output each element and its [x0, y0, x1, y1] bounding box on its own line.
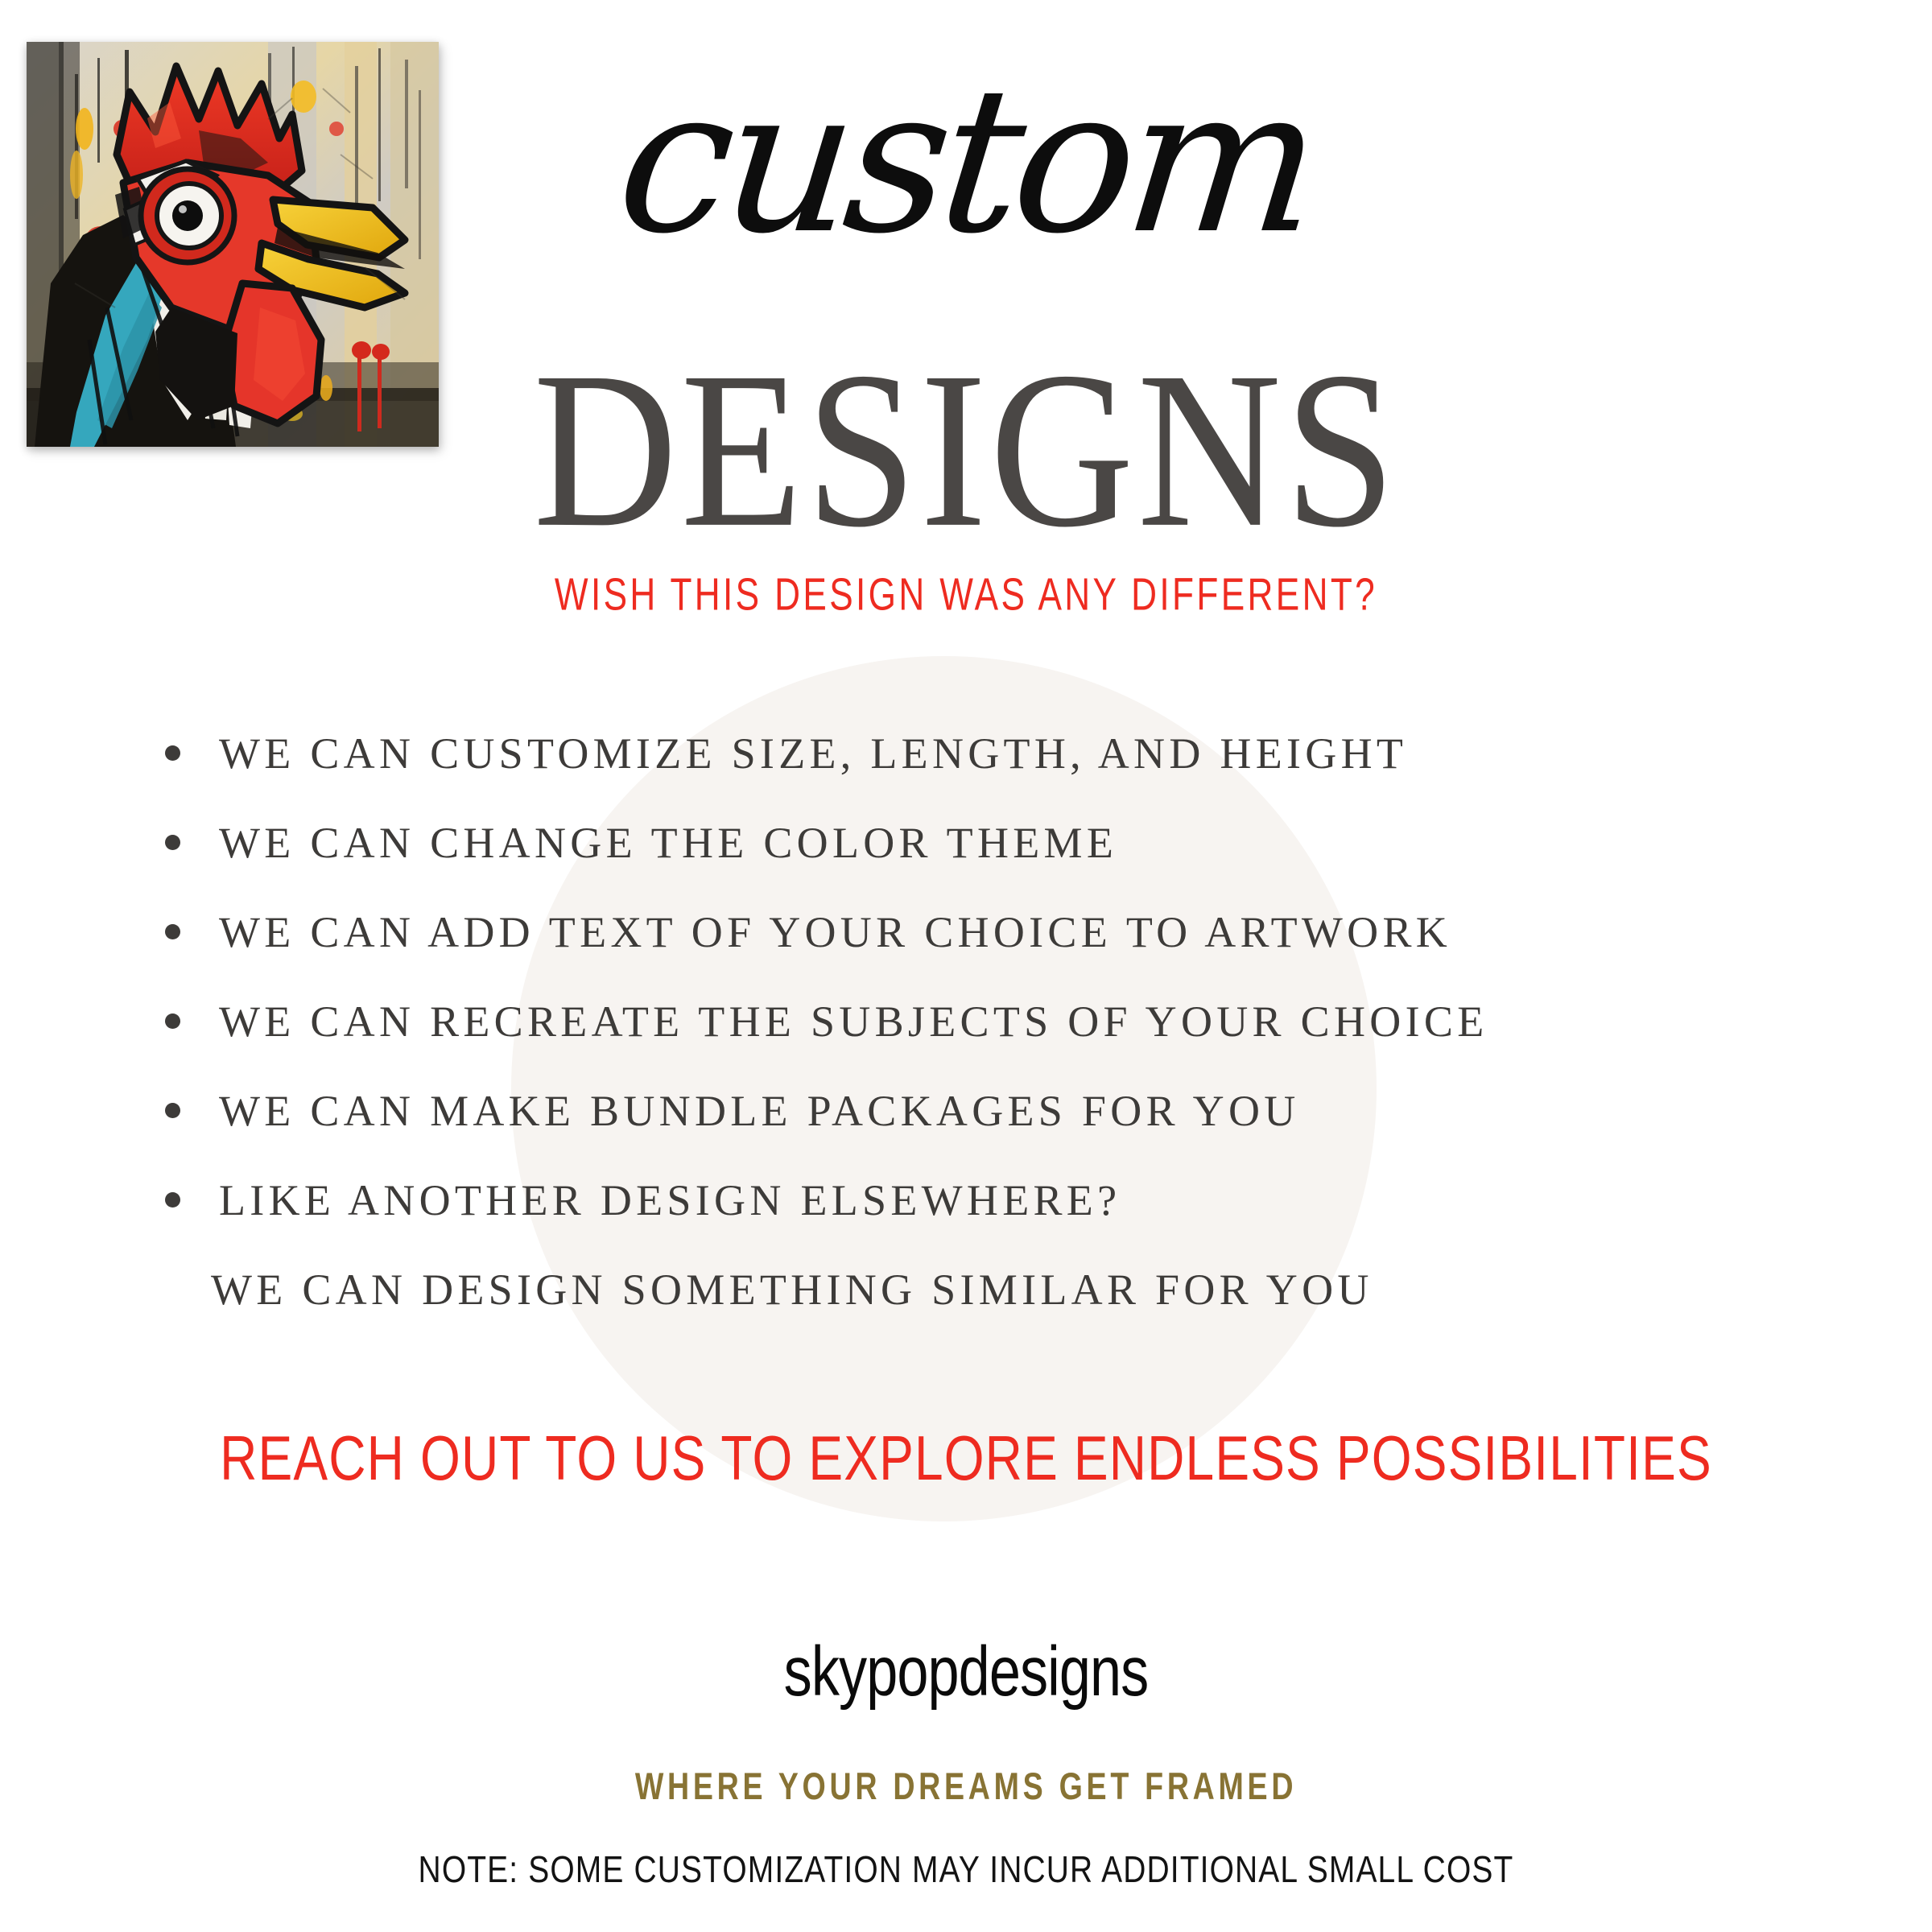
script-heading-custom: custom: [0, 60, 1932, 262]
bullet-dot-icon: [165, 1192, 180, 1207]
bullet-dot-icon: [165, 924, 180, 939]
list-item-continuation: WE CAN DESIGN SOMETHING SIMILAR FOR YOU: [0, 1245, 1932, 1335]
subtitle-question: WISH THIS DESIGN WAS ANY DIFFERENT?: [39, 572, 1893, 617]
customization-options-list: WE CAN CUSTOMIZE SIZE, LENGTH, AND HEIGH…: [0, 708, 1932, 1335]
bullet-dot-icon: [165, 835, 180, 850]
list-item-label: WE CAN CUSTOMIZE SIZE, LENGTH, AND HEIGH…: [219, 732, 1407, 775]
list-item-continuation-label: WE CAN DESIGN SOMETHING SIMILAR FOR YOU: [211, 1268, 1373, 1311]
list-item-label: LIKE ANOTHER DESIGN ELSEWHERE?: [219, 1179, 1121, 1222]
list-item-label: WE CAN MAKE BUNDLE PACKAGES FOR YOU: [219, 1089, 1300, 1133]
list-item-label: WE CAN RECREATE THE SUBJECTS OF YOUR CHO…: [219, 1000, 1488, 1043]
call-to-action-text: REACH OUT TO US TO EXPLORE ENDLESS POSSI…: [29, 1426, 1903, 1489]
list-item: WE CAN CHANGE THE COLOR THEME: [0, 798, 1932, 887]
poster-canvas: custom DESIGNS WISH THIS DESIGN WAS ANY …: [0, 0, 1932, 1932]
list-item: WE CAN CUSTOMIZE SIZE, LENGTH, AND HEIGH…: [0, 708, 1932, 798]
footer-note: NOTE: SOME CUSTOMIZATION MAY INCUR ADDIT…: [48, 1851, 1884, 1889]
bullet-dot-icon: [165, 1013, 180, 1029]
list-item-label: WE CAN ADD TEXT OF YOUR CHOICE TO ARTWOR…: [219, 910, 1451, 954]
list-item-label: WE CAN CHANGE THE COLOR THEME: [219, 821, 1117, 865]
list-item: WE CAN MAKE BUNDLE PACKAGES FOR YOU: [0, 1066, 1932, 1155]
page-title-designs: DESIGNS: [0, 338, 1932, 562]
bullet-dot-icon: [165, 745, 180, 761]
brand-tagline: WHERE YOUR DREAMS GET FRAMED: [58, 1768, 1874, 1806]
list-item: LIKE ANOTHER DESIGN ELSEWHERE?: [0, 1155, 1932, 1245]
bullet-dot-icon: [165, 1103, 180, 1118]
list-item: WE CAN ADD TEXT OF YOUR CHOICE TO ARTWOR…: [0, 887, 1932, 976]
list-item: WE CAN RECREATE THE SUBJECTS OF YOUR CHO…: [0, 976, 1932, 1066]
brand-wordmark: skypopdesigns: [97, 1636, 1835, 1706]
